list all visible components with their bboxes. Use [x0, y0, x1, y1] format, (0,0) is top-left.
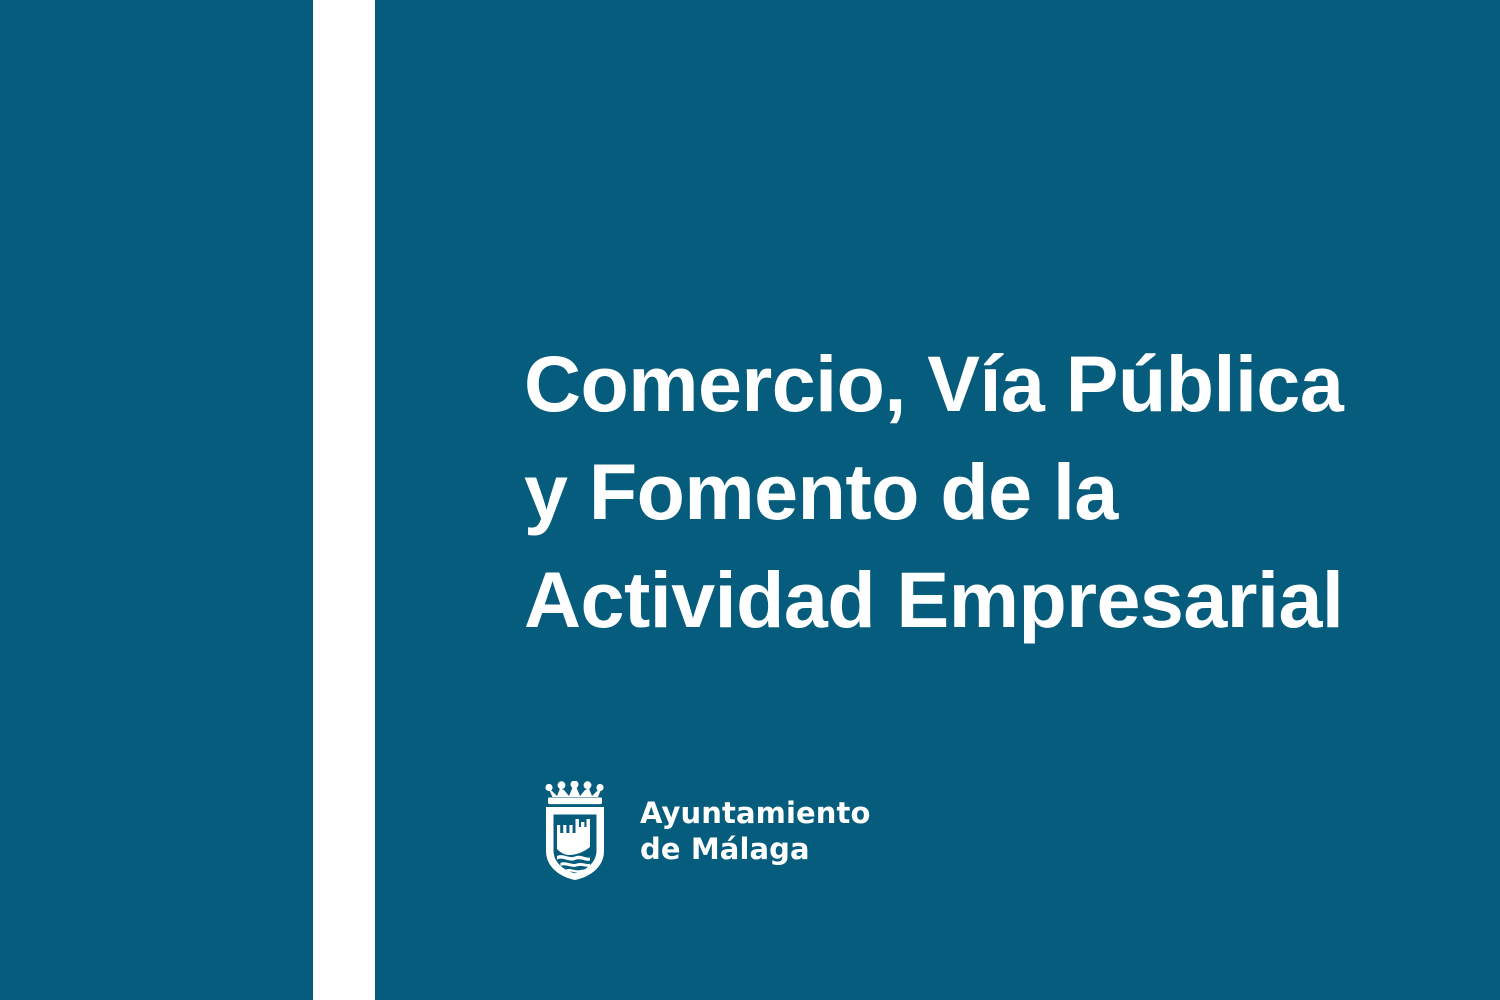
page-title: Comercio, Vía Pública y Fomento de la Ac…: [524, 330, 1424, 654]
malaga-coat-of-arms-icon: [540, 781, 610, 881]
title-line-3: Actividad Empresarial: [524, 546, 1424, 654]
logo-wordmark-line-2: de Málaga: [640, 831, 871, 867]
title-line-2: y Fomento de la: [524, 438, 1424, 546]
slide-canvas: Comercio, Vía Pública y Fomento de la Ac…: [0, 0, 1500, 1000]
logo-wordmark: Ayuntamiento de Málaga: [640, 795, 871, 867]
title-line-1: Comercio, Vía Pública: [524, 330, 1424, 438]
white-stripe-divider: [313, 0, 375, 1000]
left-color-band: [0, 0, 313, 1000]
logo-wordmark-line-1: Ayuntamiento: [640, 795, 871, 831]
ayuntamiento-de-malaga-logo: Ayuntamiento de Málaga: [540, 781, 871, 881]
